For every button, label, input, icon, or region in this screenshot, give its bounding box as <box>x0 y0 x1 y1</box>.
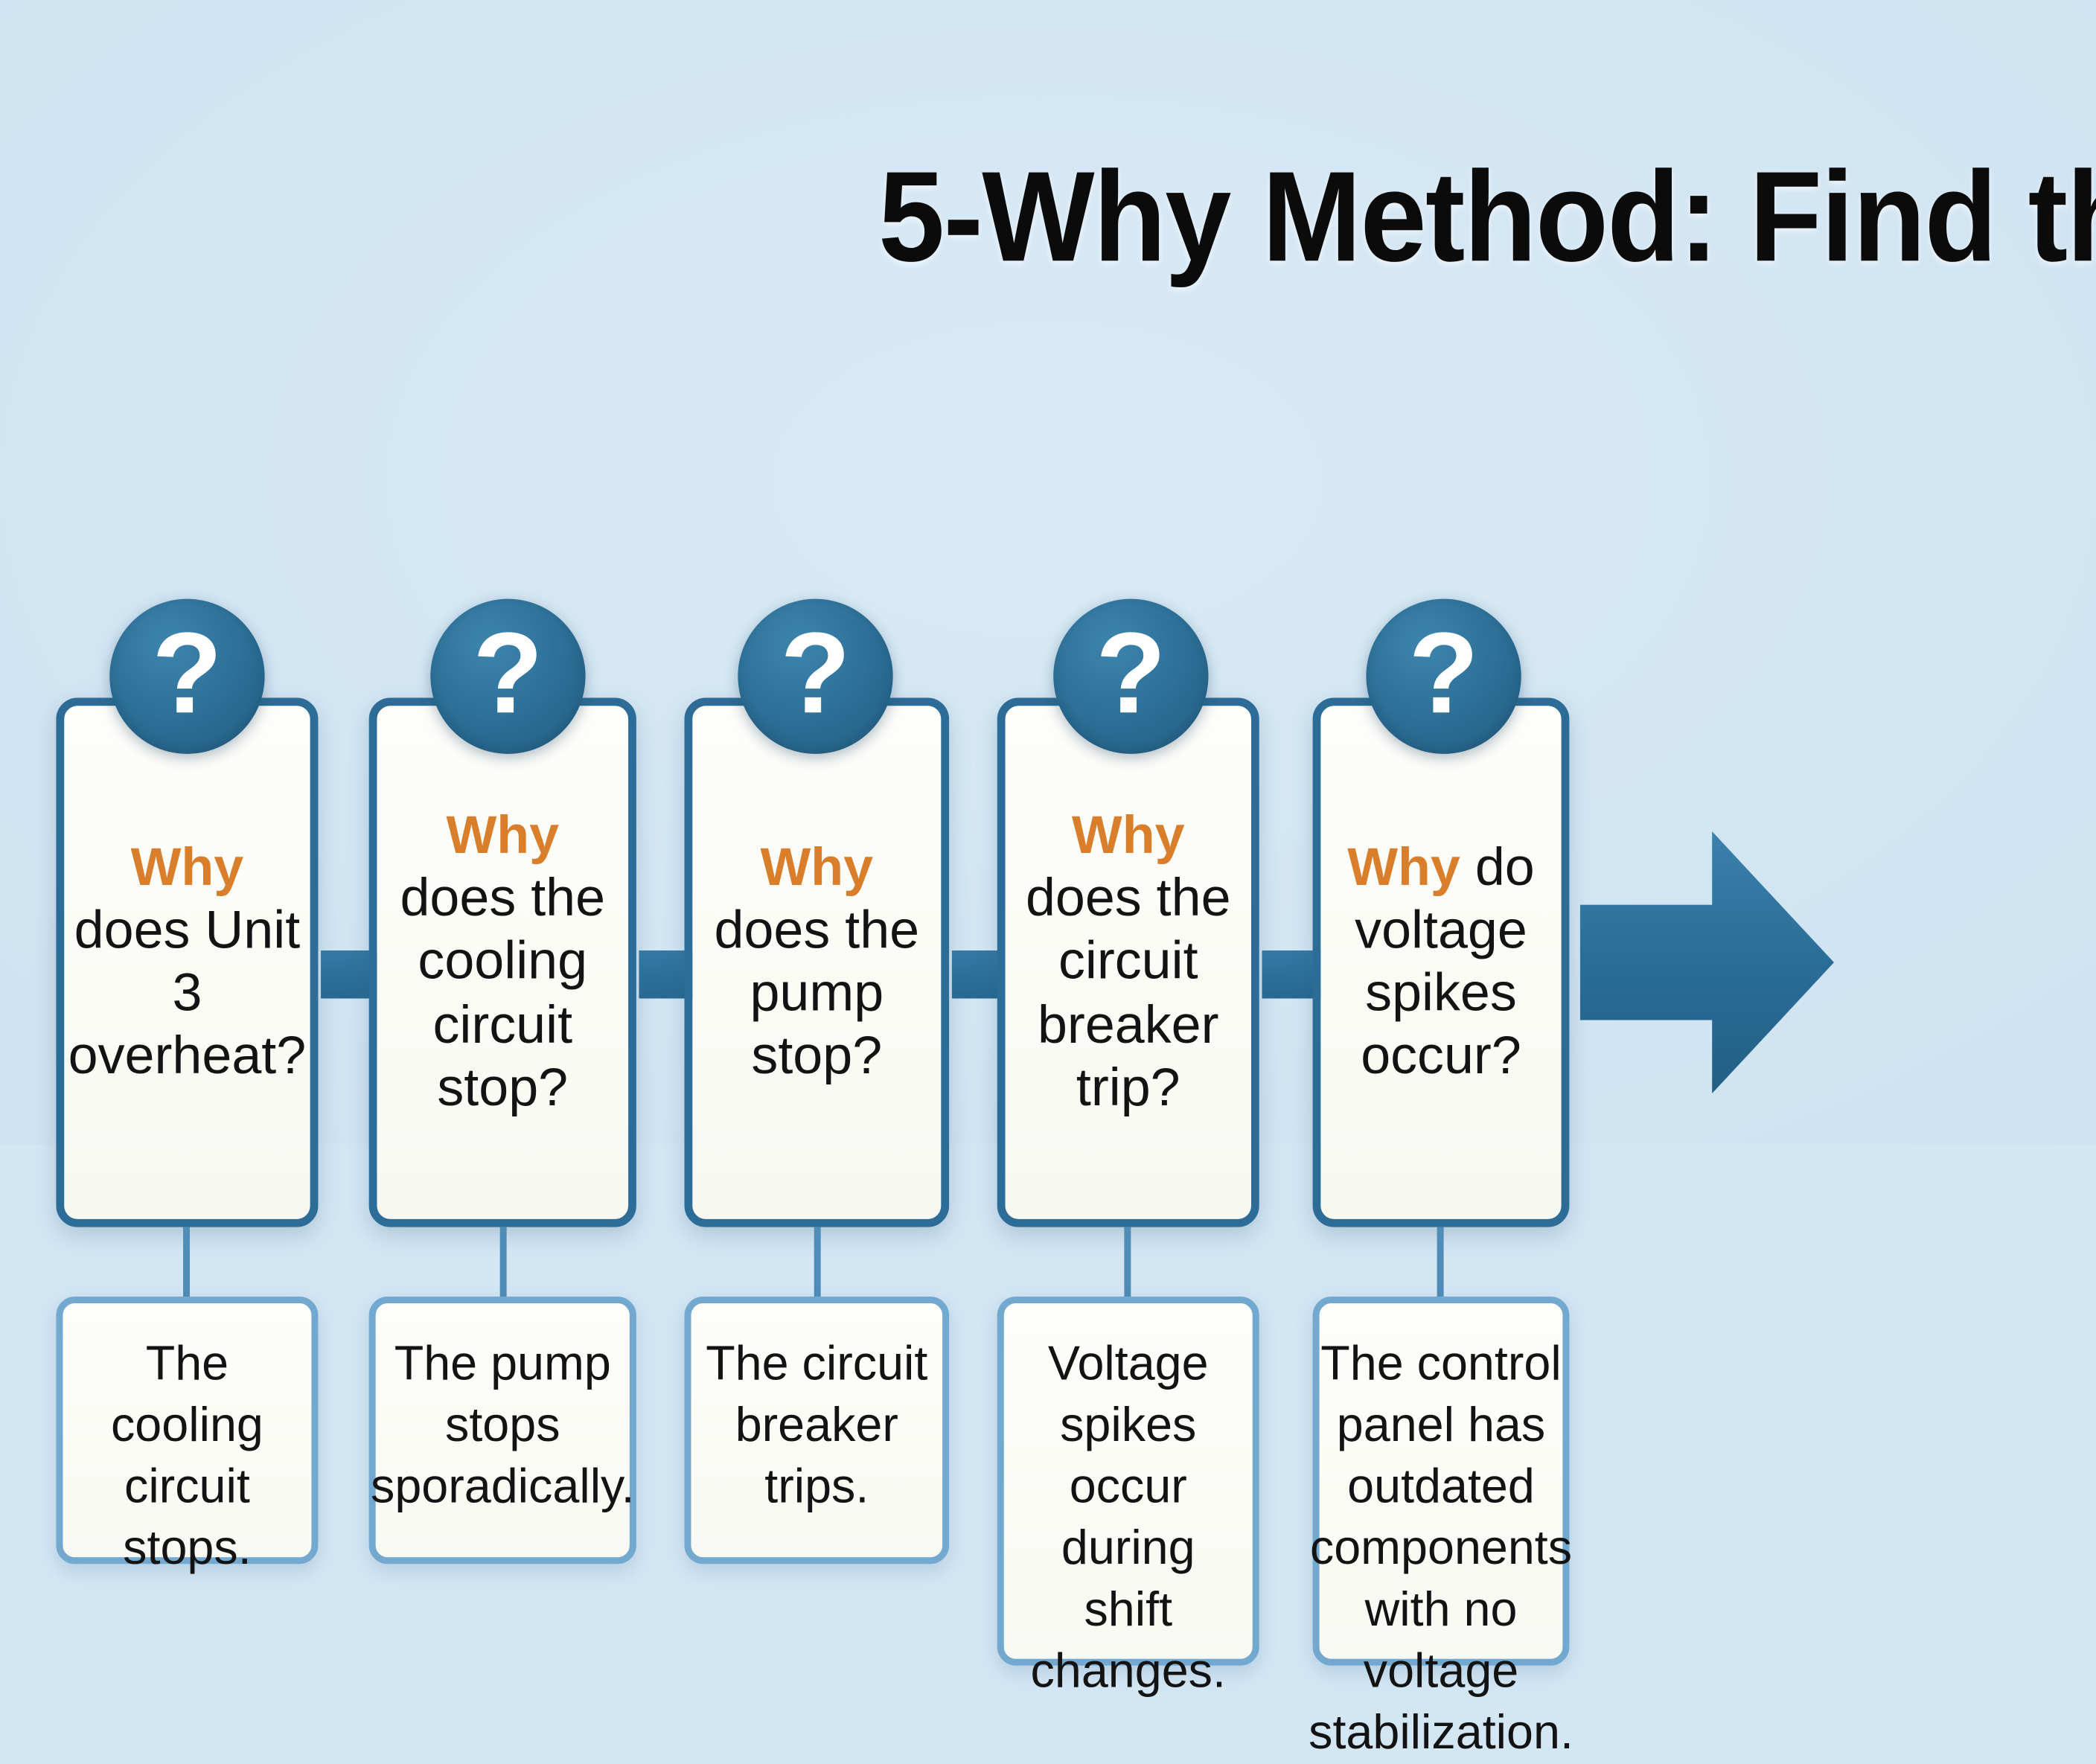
why-keyword-4: Why <box>1072 806 1185 865</box>
connector-line-4 <box>1124 1227 1131 1300</box>
why-keyword-1: Why <box>131 837 244 896</box>
question-mark-icon: ? <box>738 599 892 754</box>
why-keyword-2: Why <box>446 806 559 865</box>
question-text-2: Why does the cooling circuit stop? <box>388 805 618 1120</box>
question-mark-icon: ? <box>1053 599 1208 754</box>
question-rest-3: does the pump stop? <box>714 901 919 1086</box>
question-text-3: Why does the pump stop? <box>703 837 930 1089</box>
connector-line-5 <box>1437 1227 1444 1300</box>
question-card-5[interactable]: Why do voltage spikes occur? <box>1313 697 1570 1227</box>
question-mark-icon: ? <box>1366 599 1521 754</box>
diagram-canvas: 5-Why Method: Find the Root Cause ? Why … <box>0 0 2096 1144</box>
page-title: 5-Why Method: Find the Root Cause <box>132 144 2096 292</box>
connector-line-1 <box>183 1227 190 1300</box>
answer-card-2[interactable]: The pump stops sporadically. <box>369 1297 636 1564</box>
answer-card-5[interactable]: The control panel has outdated component… <box>1313 1297 1570 1666</box>
answer-text-3: The circuit breaker trips. <box>704 1333 929 1518</box>
question-text-4: Why does the circuit breaker trip? <box>1016 805 1241 1120</box>
why-keyword-3: Why <box>760 837 873 896</box>
question-rest-1: does Unit 3 overheat? <box>68 901 307 1086</box>
question-rest-4: does the circuit breaker trip? <box>1026 869 1231 1117</box>
answer-card-1[interactable]: The cooling circuit stops. <box>56 1297 318 1564</box>
question-card-1[interactable]: Why does Unit 3 overheat? <box>56 697 318 1227</box>
answer-card-4[interactable]: Voltage spikes occur during shift change… <box>997 1297 1259 1666</box>
answer-text-2: The pump stops sporadically. <box>371 1333 635 1518</box>
question-mark-icon: ? <box>109 599 264 754</box>
answer-text-4: Voltage spikes occur during shift change… <box>1017 1333 1239 1703</box>
question-rest-2: does the cooling circuit stop? <box>400 869 605 1117</box>
question-card-3[interactable]: Why does the pump stop? <box>685 697 950 1227</box>
question-text-5: Why do voltage spikes occur? <box>1332 837 1551 1089</box>
why-keyword-5: Why <box>1347 837 1460 896</box>
flow-arrow-root-cause <box>1580 831 1834 1093</box>
connector-line-2 <box>500 1227 507 1300</box>
question-text-1: Why does Unit 3 overheat? <box>68 837 307 1089</box>
question-mark-icon: ? <box>430 599 585 754</box>
answer-text-5: The control panel has outdated component… <box>1309 1333 1573 1764</box>
question-card-2[interactable]: Why does the cooling circuit stop? <box>369 697 636 1227</box>
answer-card-3[interactable]: The circuit breaker trips. <box>685 1297 950 1564</box>
connector-line-3 <box>814 1227 821 1300</box>
answer-text-1: The cooling circuit stops. <box>76 1333 298 1579</box>
question-card-4[interactable]: Why does the circuit breaker trip? <box>997 697 1259 1227</box>
